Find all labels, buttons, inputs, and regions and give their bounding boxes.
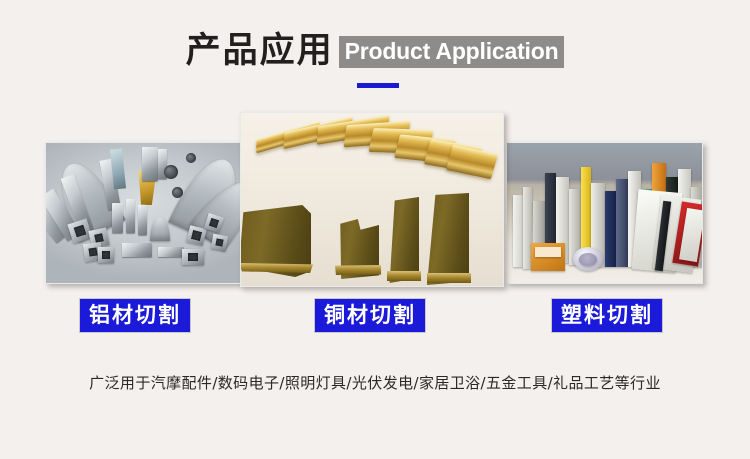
caption-badge-copper: 铜材切割 [314,298,426,333]
aluminium-profiles-photo [46,143,240,283]
copper-profiles-photo [241,113,503,286]
plastic-profiles-photo [507,143,702,283]
product-application-banner: 产品应用Product Application [0,0,750,459]
panel-image-aluminium[interactable] [45,142,241,284]
caption-badge-aluminium: 铝材切割 [79,298,191,333]
caption-badge-plastic: 塑料切割 [551,298,663,333]
application-industries-text: 广泛用于汽摩配件/数码电子/照明灯具/光伏发电/家居卫浴/五金工具/礼品工艺等行… [0,372,750,393]
panel-image-plastic[interactable] [506,142,703,284]
panel-image-copper[interactable] [240,112,504,287]
